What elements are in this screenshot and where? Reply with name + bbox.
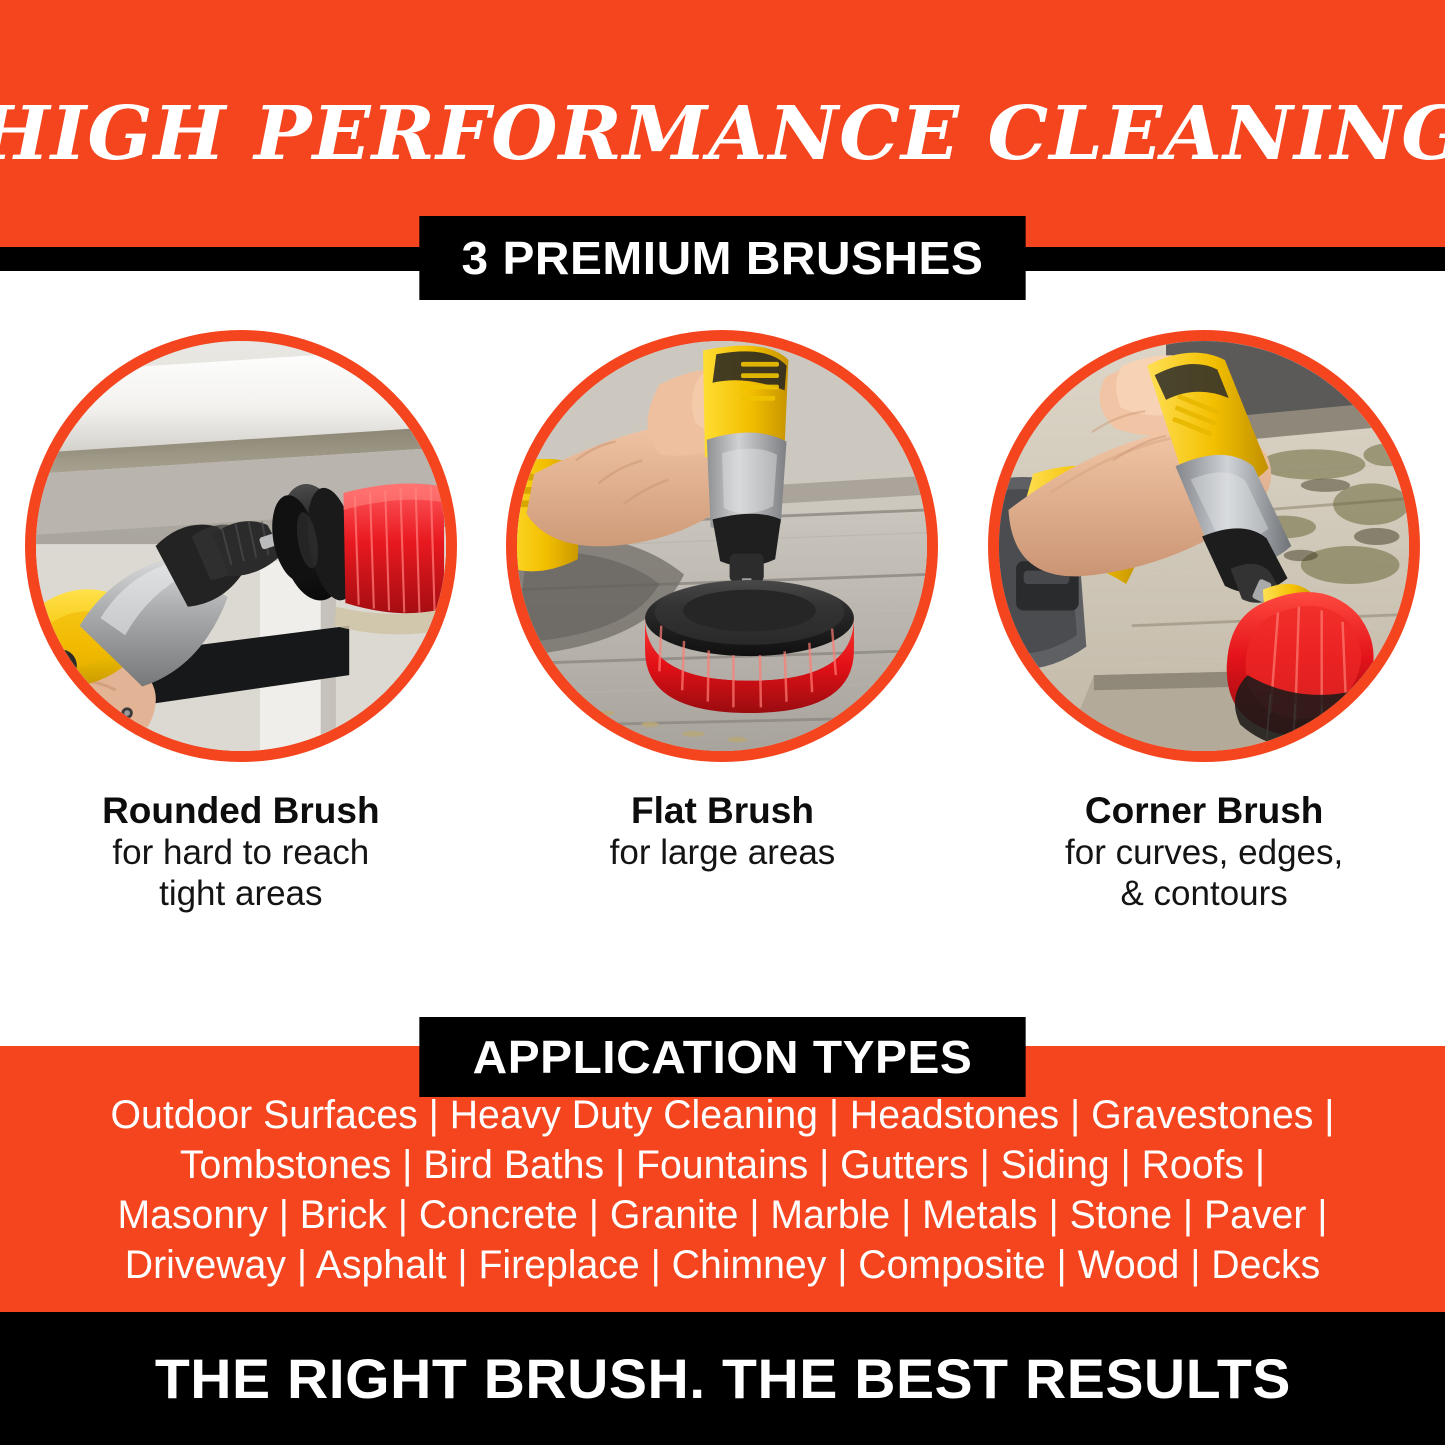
banner-application-types: APPLICATION TYPES bbox=[419, 1017, 1025, 1097]
banner-premium-brushes: 3 PREMIUM BRUSHES bbox=[419, 216, 1025, 300]
page-title: HIGH PERFORMANCE CLEANING bbox=[0, 0, 1445, 247]
rounded-brush-subtitle-line-1: for hard to reach bbox=[102, 833, 379, 874]
corner-brush-subtitle-line-2: & contours bbox=[1065, 874, 1343, 915]
application-types-list: Outdoor Surfaces | Heavy Duty Cleaning |… bbox=[0, 1090, 1445, 1290]
application-line-1: Outdoor Surfaces | Heavy Duty Cleaning |… bbox=[14, 1090, 1430, 1140]
flat-brush-title: Flat Brush bbox=[610, 790, 836, 833]
brush-card-rounded: Rounded Brush for hard to reach tight ar… bbox=[6, 330, 476, 914]
rounded-brush-photo-art bbox=[36, 341, 446, 751]
rounded-brush-subtitle-line-2: tight areas bbox=[102, 874, 379, 915]
corner-brush-photo-art bbox=[999, 341, 1409, 751]
footer-tagline: THE RIGHT BRUSH. THE BEST RESULTS bbox=[154, 1346, 1290, 1411]
footer-band: THE RIGHT BRUSH. THE BEST RESULTS bbox=[0, 1312, 1445, 1445]
rounded-brush-title: Rounded Brush bbox=[102, 790, 379, 833]
brush-cards-row: Rounded Brush for hard to reach tight ar… bbox=[0, 330, 1445, 1000]
rounded-brush-caption: Rounded Brush for hard to reach tight ar… bbox=[102, 790, 379, 914]
rounded-brush-photo bbox=[25, 330, 457, 762]
application-line-4: Driveway | Asphalt | Fireplace | Chimney… bbox=[14, 1240, 1430, 1290]
brush-card-flat: Flat Brush for large areas bbox=[487, 330, 957, 874]
corner-brush-title: Corner Brush bbox=[1065, 790, 1343, 833]
brush-card-corner: Corner Brush for curves, edges, & contou… bbox=[969, 330, 1439, 914]
corner-brush-photo bbox=[988, 330, 1420, 762]
flat-brush-subtitle-line-1: for large areas bbox=[610, 833, 836, 874]
application-line-2: Tombstones | Bird Baths | Fountains | Gu… bbox=[14, 1140, 1430, 1190]
infographic-page: HIGH PERFORMANCE CLEANING 3 PREMIUM BRUS… bbox=[0, 0, 1445, 1445]
flat-brush-caption: Flat Brush for large areas bbox=[610, 790, 836, 874]
application-line-3: Masonry | Brick | Concrete | Granite | M… bbox=[14, 1190, 1430, 1240]
flat-brush-photo bbox=[506, 330, 938, 762]
flat-brush-photo-art bbox=[517, 341, 927, 751]
corner-brush-subtitle-line-1: for curves, edges, bbox=[1065, 833, 1343, 874]
corner-brush-caption: Corner Brush for curves, edges, & contou… bbox=[1065, 790, 1343, 914]
